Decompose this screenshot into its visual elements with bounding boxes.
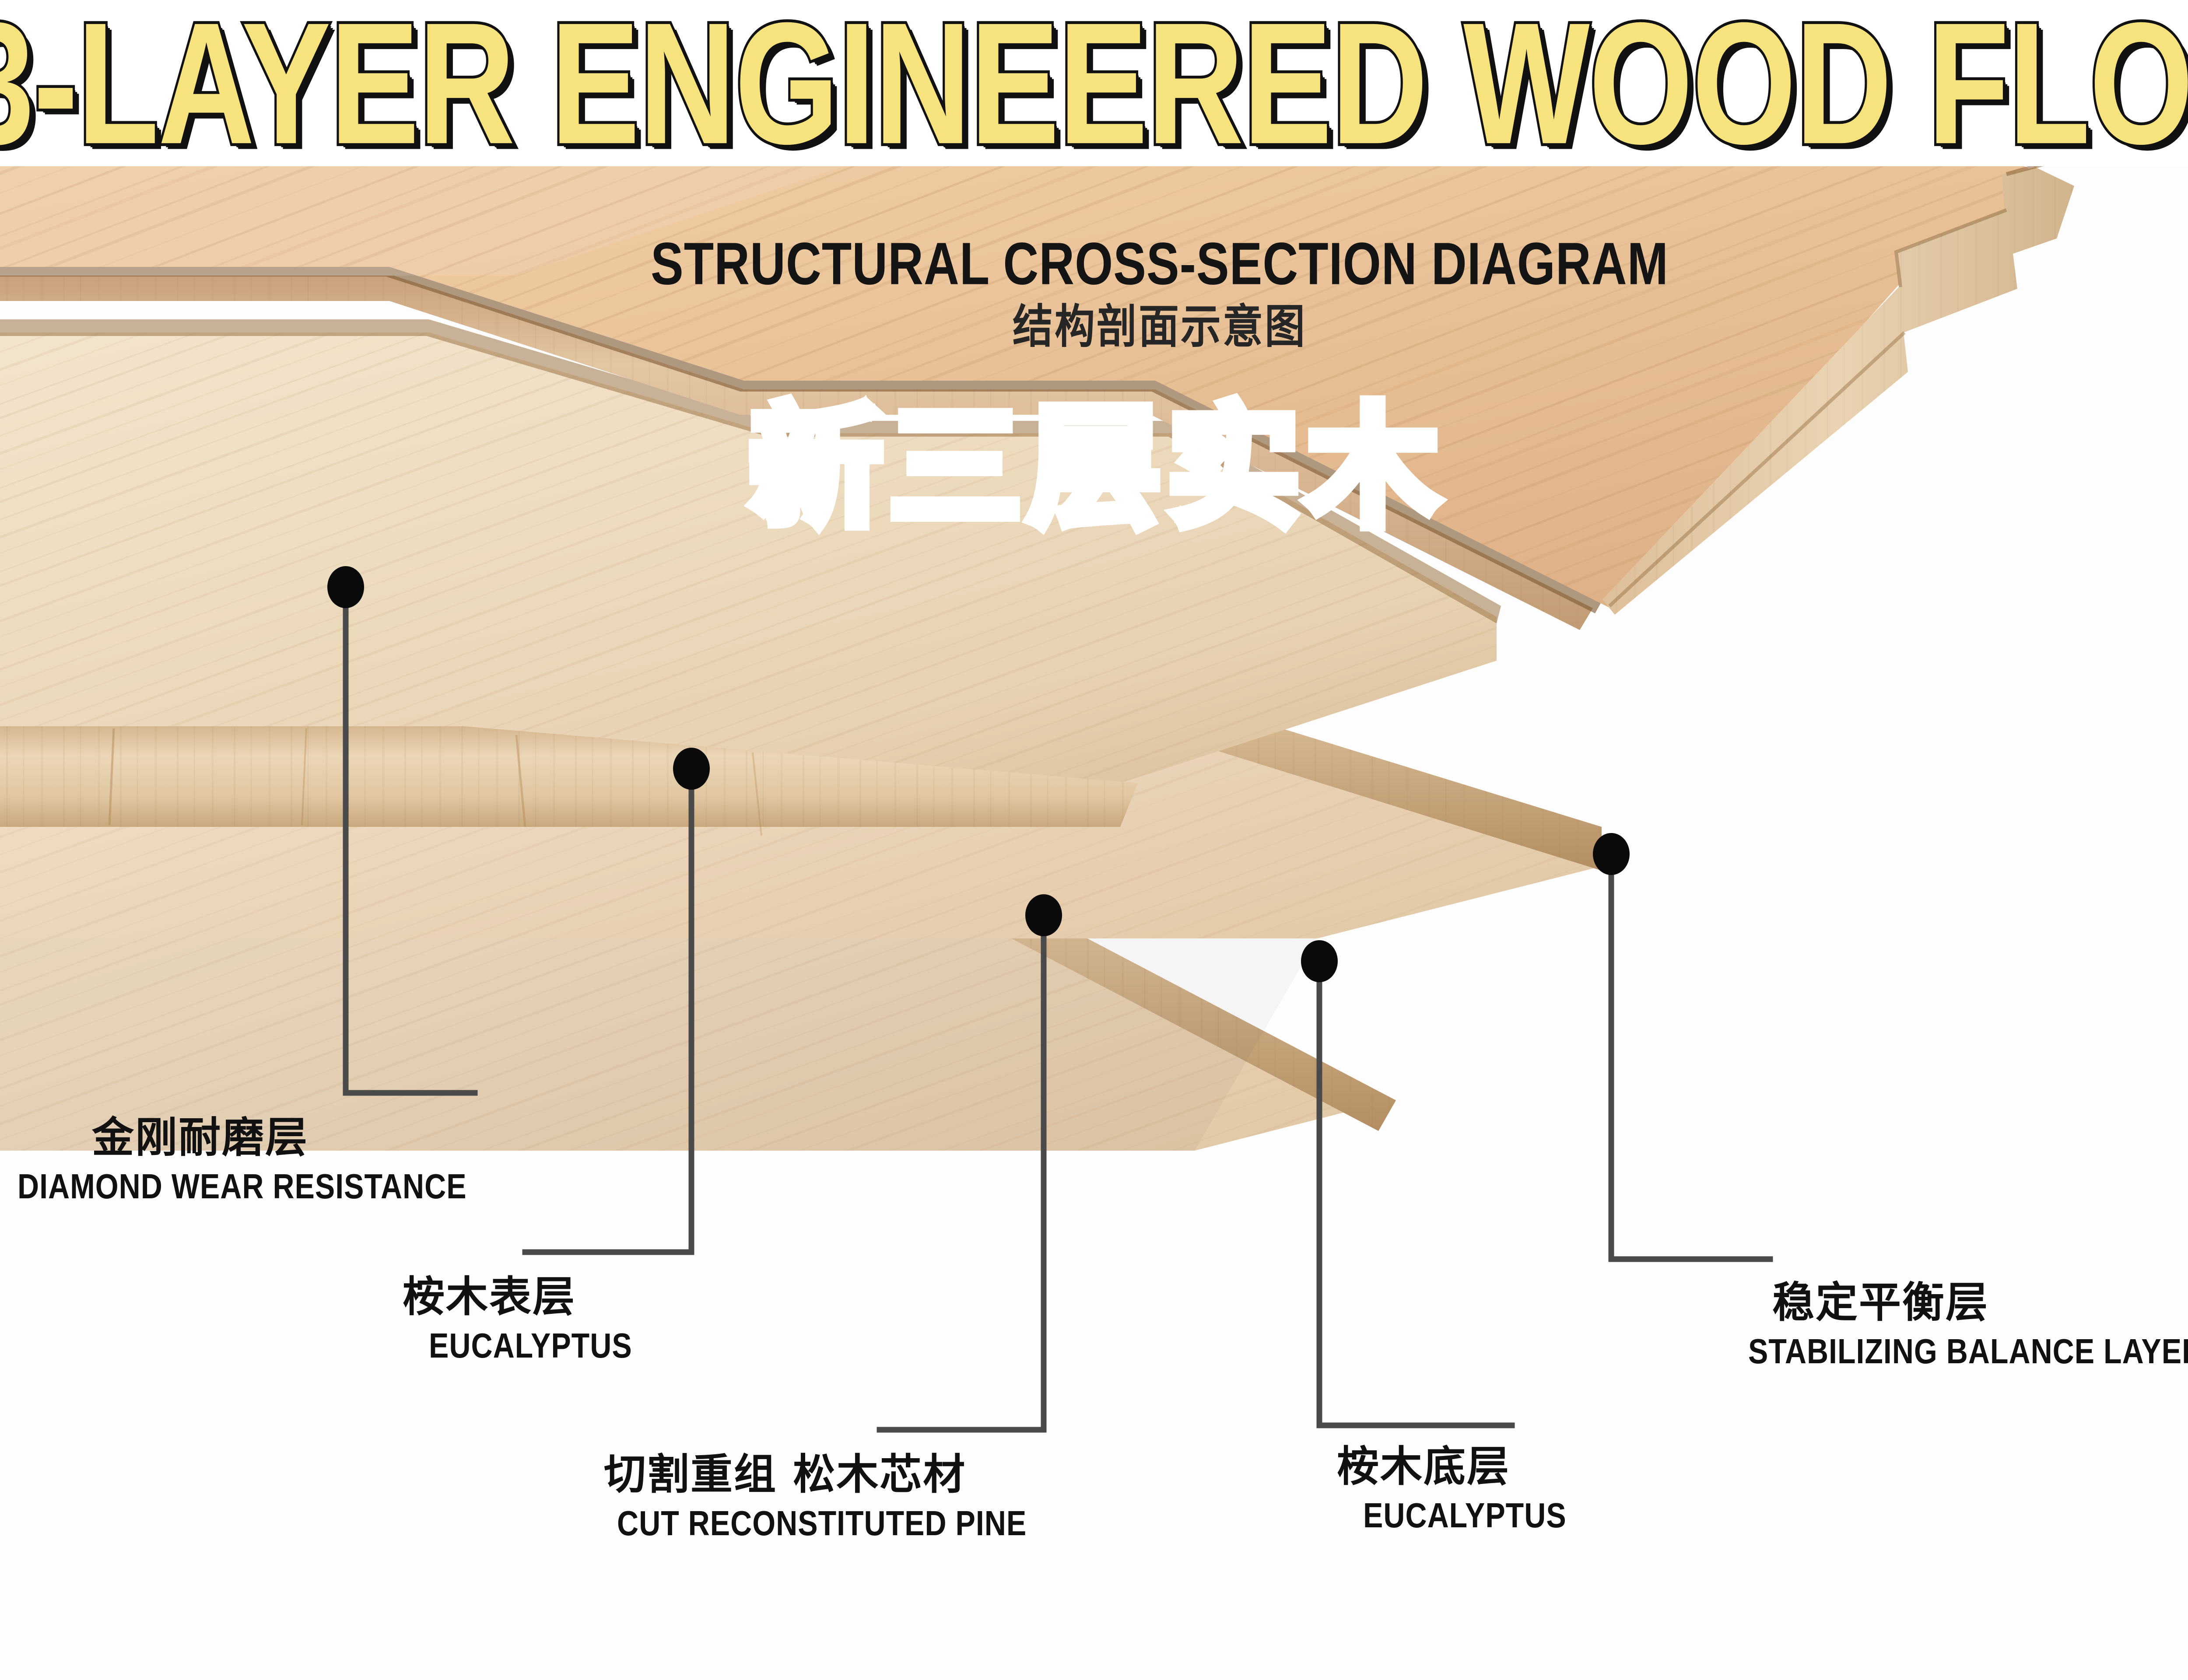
header-bar: NEW 3-LAYER ENGINEERED WOOD FLOORING	[0, 0, 2188, 166]
callout-diamond-wear-en: DIAMOND WEAR RESISTANCE	[18, 1167, 473, 1205]
callout-pine-core-cn: 切割重组 松木芯材	[586, 1452, 1129, 1497]
callout-stabilizing-balance-en: STABILIZING BALANCE LAYER	[1748, 1332, 2188, 1370]
callout-diamond-wear: 金刚耐磨层 DIAMOND WEAR RESISTANCE	[18, 1115, 473, 1200]
subtitle-chinese: 结构剖面示意图	[648, 302, 1672, 352]
callout-stabilizing-balance: 稳定平衡层 STABILIZING BALANCE LAYER	[1748, 1280, 2188, 1365]
callout-eucalyptus-bottom-cn: 桉木底层	[1332, 1444, 1665, 1489]
callout-stabilizing-balance-cn: 稳定平衡层	[1748, 1280, 2188, 1325]
callout-eucalyptus-bottom: 桉木底层 EUCALYPTUS	[1332, 1444, 1665, 1529]
callout-eucalyptus-top: 桉木表层 EUCALYPTUS	[389, 1274, 722, 1359]
callout-eucalyptus-bottom-en: EUCALYPTUS	[1332, 1496, 1665, 1534]
callout-eucalyptus-top-cn: 桉木表层	[389, 1274, 722, 1319]
page-title: NEW 3-LAYER ENGINEERED WOOD FLOORING	[0, 0, 2188, 170]
callout-pine-core: 切割重组 松木芯材 CUT RECONSTITUTED PINE	[586, 1452, 1129, 1536]
subtitle-english: STRUCTURAL CROSS-SECTION DIAGRAM	[648, 232, 1672, 296]
callout-pine-core-en: CUT RECONSTITUTED PINE	[586, 1504, 1129, 1542]
callout-diamond-wear-cn: 金刚耐磨层	[18, 1115, 473, 1160]
callout-eucalyptus-top-en: EUCALYPTUS	[389, 1326, 722, 1365]
watermark-chinese: 新三层实木	[683, 394, 1514, 542]
